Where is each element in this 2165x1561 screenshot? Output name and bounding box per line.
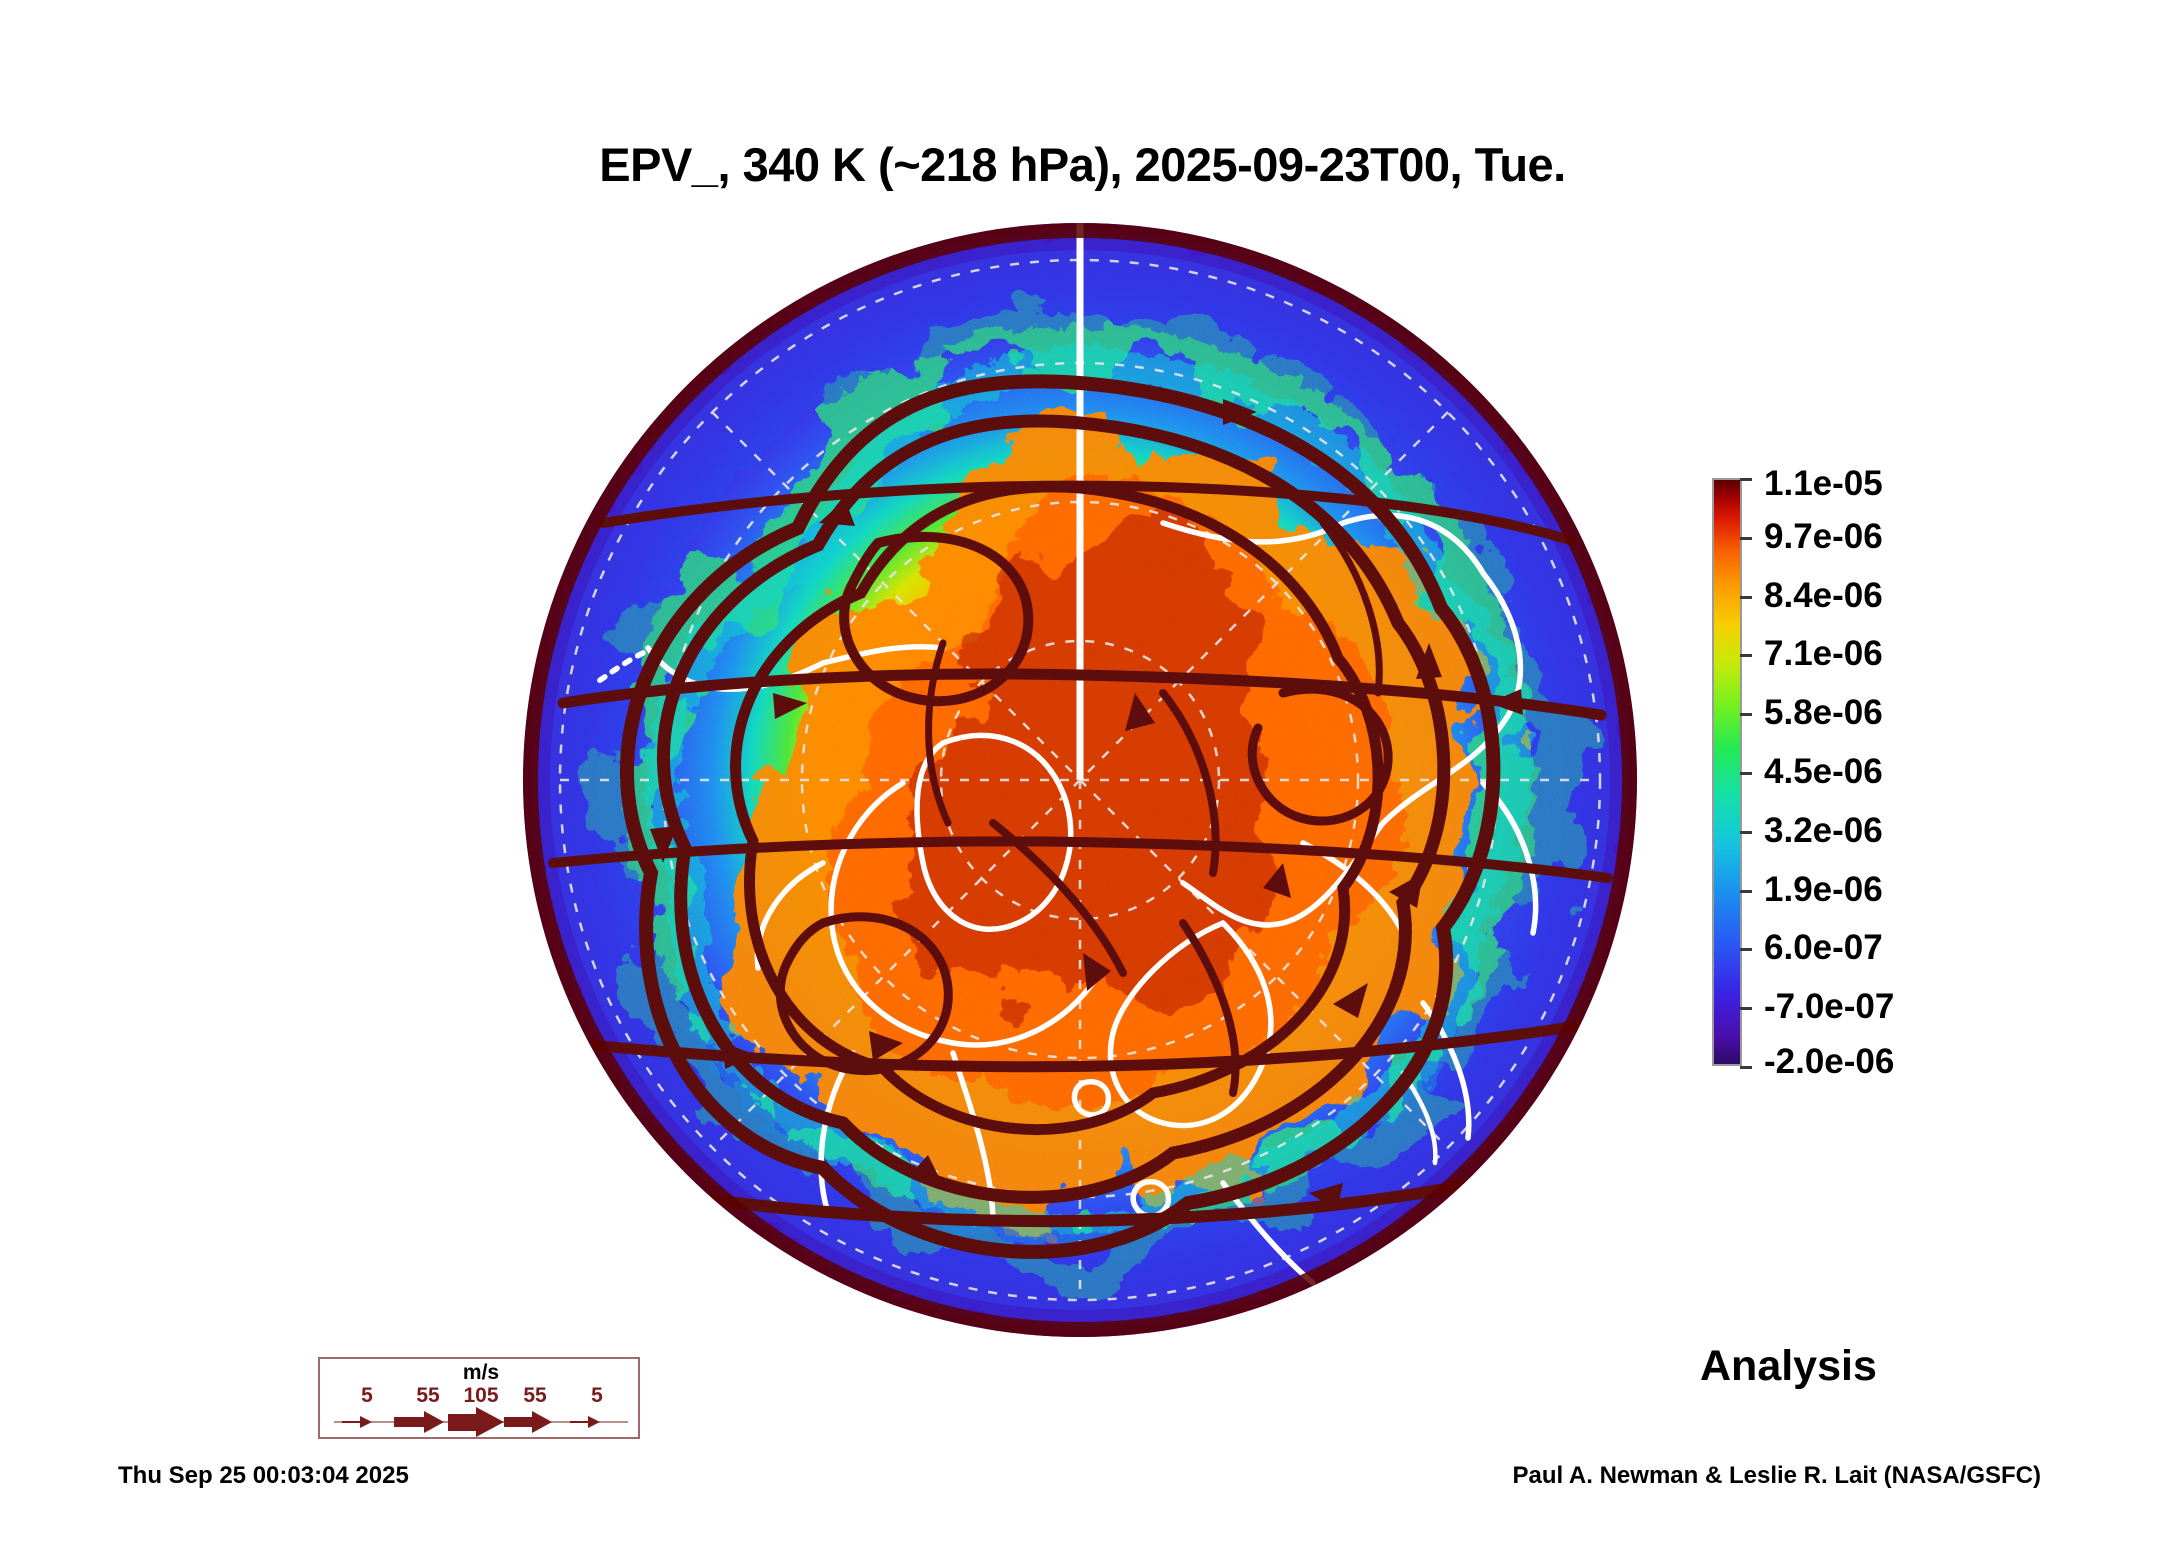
page-title: EPV_, 340 K (~218 hPa), 2025-09-23T00, T… <box>0 137 2165 192</box>
colorbar-label: 4.5e-06 <box>1764 752 1883 792</box>
colorbar-tick <box>1740 772 1752 775</box>
colorbar-tick <box>1740 1066 1752 1069</box>
colorbar-tick <box>1740 478 1752 481</box>
analysis-label: Analysis <box>1700 1342 1877 1391</box>
colorbar-tick <box>1740 948 1752 951</box>
colorbar-label: 1.9e-06 <box>1764 870 1883 910</box>
colorbar-label: 9.7e-06 <box>1764 517 1883 557</box>
colorbar-tick <box>1740 537 1752 540</box>
colorbar-tick <box>1740 1007 1752 1010</box>
wind-tick-label: 5 <box>591 1384 603 1408</box>
colorbar-tick <box>1740 831 1752 834</box>
wind-arrow-scale-icon <box>320 1407 642 1437</box>
wind-tick-label: 55 <box>523 1384 546 1408</box>
generation-timestamp: Thu Sep 25 00:03:04 2025 <box>118 1462 409 1490</box>
colorbar-label: 8.4e-06 <box>1764 576 1883 616</box>
polar-map-graphic <box>523 223 1637 1337</box>
colorbar-label: 5.8e-06 <box>1764 693 1883 733</box>
polar-map-disc <box>523 223 1637 1337</box>
colorbar-label: 7.1e-06 <box>1764 634 1883 674</box>
colorbar-label: -7.0e-07 <box>1764 987 1894 1027</box>
colorbar-label: 1.1e-05 <box>1764 464 1883 504</box>
wind-tick-label: 55 <box>416 1384 439 1408</box>
colorbar-label: -2.0e-06 <box>1764 1042 1894 1082</box>
colorbar-label: 3.2e-06 <box>1764 811 1883 851</box>
polar-map-panel <box>523 223 1637 1337</box>
colorbar-tick <box>1740 713 1752 716</box>
wind-speed-legend: m/s 5 55 105 55 5 <box>318 1357 640 1439</box>
colorbar: 1.1e-05 9.7e-06 8.4e-06 7.1e-06 5.8e-06 … <box>1712 478 2132 1078</box>
colorbar-gradient <box>1712 478 1742 1066</box>
wind-legend-units: m/s <box>320 1361 642 1385</box>
colorbar-tick <box>1740 890 1752 893</box>
colorbar-label: 6.0e-07 <box>1764 928 1883 968</box>
wind-tick-label: 105 <box>463 1384 498 1408</box>
wind-tick-label: 5 <box>361 1384 373 1408</box>
colorbar-tick <box>1740 596 1752 599</box>
author-credit: Paul A. Newman & Leslie R. Lait (NASA/GS… <box>1512 1462 2041 1490</box>
colorbar-tick <box>1740 654 1752 657</box>
